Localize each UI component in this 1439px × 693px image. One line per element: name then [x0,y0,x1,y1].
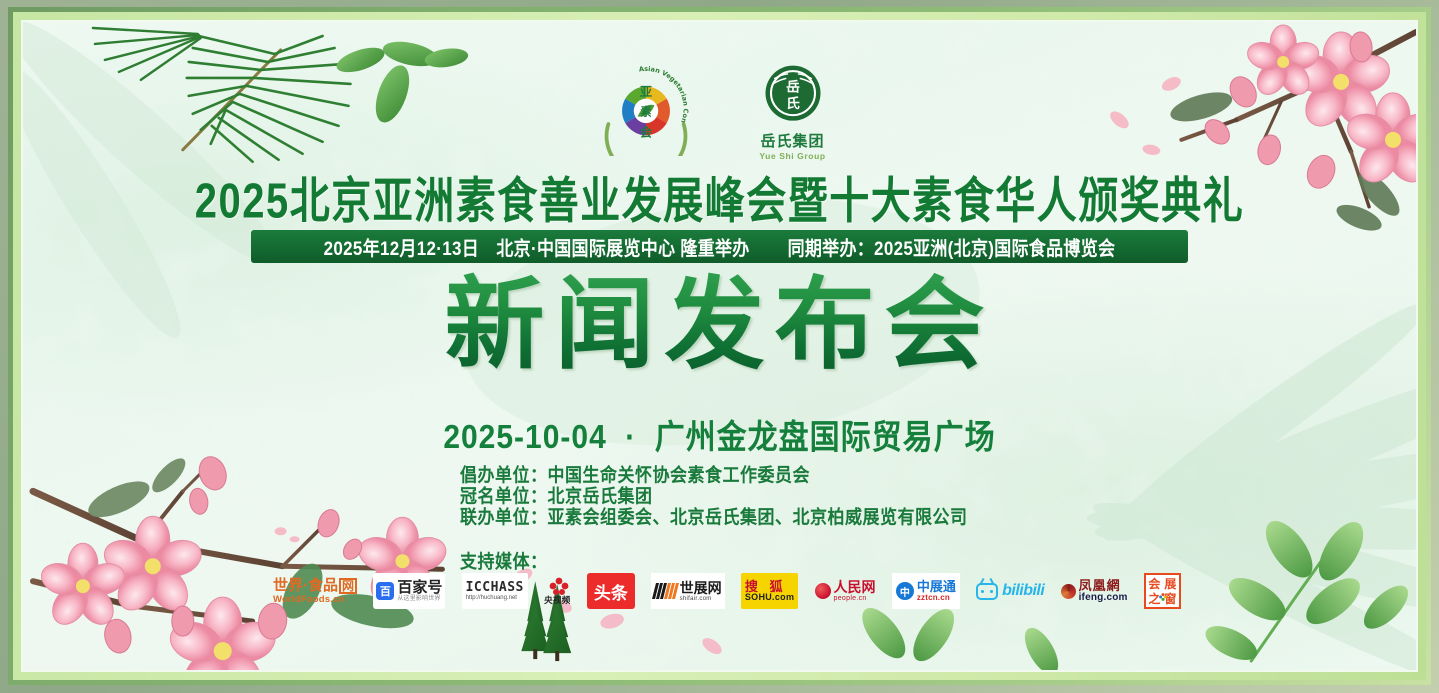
leaf-pair-bottom [854,601,1065,670]
svg-text:氏: 氏 [786,96,800,112]
people-cn-icon [815,583,831,599]
shifair-logo-cn: 世展网 [680,581,722,595]
baijiahao-logo-tagline: 从这里影响世界 [397,596,440,602]
supporting-media-logo-row: 世界 · 食品 网 WorldFoods.cn 百 百家号 从这里影响世界 [273,571,1181,611]
ifeng-logo-cn: 凤凰網 [1079,579,1121,592]
baijiahao-logo[interactable]: 百 百家号 从这里影响世界 [373,573,445,609]
shifair-logo[interactable]: 世展网 shifair.com [651,573,725,609]
organizer-block: 倡办单位：中国生命关怀协会素食工作委员会 冠名单位：北京岳氏集团 联办单位：亚素… [460,465,968,528]
huizhan-center-ornament [1159,588,1165,594]
yueshi-group-logo: 岳 氏 岳氏集团 Yue Shi Group [745,62,841,162]
people-cn-logo[interactable]: 人民网 people.cn [815,573,876,609]
supporting-media-label: 支持媒体： [460,546,548,574]
baijiahao-icon: 百 [376,582,394,600]
toutiao-logo[interactable]: 头条 [587,573,635,609]
press-conference-venue: 广州金龙盘国际贸易广场 [655,409,996,458]
poster-root: Asian Vegetarian Conference 亚 素 会 [0,0,1439,693]
people-cn-logo-cn: 人民网 [834,580,876,594]
top-logo-row: Asian Vegetarian Conference 亚 素 会 [23,62,1416,162]
main-title-text: 新闻发布会 [445,269,995,381]
zztcn-icon: 中 [896,582,914,600]
people-cn-logo-en: people.cn [834,595,867,602]
zztcn-logo-url: zztcn.cn [917,594,950,602]
bilibili-logo-text: bilibili [1002,582,1044,600]
poster-headline: 2025北京亚洲素食善业发展峰会暨十大素食华人颁奖典礼 [23,177,1416,217]
sohu-logo-en: SOHU.com [745,593,794,602]
huchuang-logo-url: http://huchuang.net [466,595,517,601]
svg-text:会: 会 [639,124,652,139]
venue-separator: · [625,419,636,457]
yangshipin-logo[interactable]: 央视频 [544,573,570,609]
event-details-bar: 2025年12月12·13日 北京·中国国际展览中心 隆重举办 同期举办：202… [251,230,1188,263]
huchuang-logo-cn: ICCHASS [466,581,524,594]
worldfoods-logo-cn2: 食品 [308,578,338,593]
ifeng-logo[interactable]: 凤凰網 ifeng.com [1061,573,1128,609]
headline-text: 2025北京亚洲素食善业发展峰会暨十大素食华人颁奖典礼 [195,177,1244,226]
svg-text:岳: 岳 [786,78,800,95]
main-title: 新闻发布会 [23,269,1416,381]
shifair-bars-icon [652,583,678,599]
asian-vegetarian-conference-logo: Asian Vegetarian Conference 亚 素 会 [599,62,693,156]
poster-canvas: Asian Vegetarian Conference 亚 素 会 [23,22,1416,670]
yangshipin-icon [549,577,566,592]
worldfoods-logo[interactable]: 世界 · 食品 网 WorldFoods.cn [273,573,357,609]
shifair-logo-url: shifair.com [680,596,712,602]
worldfoods-logo-en: WorldFoods.cn [273,595,345,605]
yangshipin-logo-cn: 央视频 [544,594,570,606]
ifeng-logo-url: ifeng.com [1079,593,1128,603]
ifeng-phoenix-icon [1061,584,1076,599]
huchuang-logo[interactable]: ICCHASS http://huchuang.net [462,573,528,609]
worldfoods-logo-cn: 世界 [273,578,303,593]
press-conference-date: 2025-10-04 [443,419,606,457]
concurrent-event-text: 同期举办：2025亚洲(北京)国际食品博览会 [788,233,1116,261]
poster-frame-hairline: Asian Vegetarian Conference 亚 素 会 [21,20,1418,672]
event-date-venue-text: 2025年12月12·13日 北京·中国国际展览中心 隆重举办 [324,233,750,261]
worldfoods-logo-box: 网 [339,578,357,594]
yueshi-logo-english: Yue Shi Group [745,151,841,161]
baijiahao-logo-cn: 百家号 [397,580,442,595]
huizhanzhichuang-logo[interactable]: 会 展 之 窗 [1144,573,1181,609]
organizer-line-initiator: 倡办单位：中国生命关怀协会素食工作委员会 [460,464,968,487]
bilibili-logo[interactable]: bilibili [976,573,1044,609]
press-conference-venue-line: 2025-10-04 · 广州金龙盘国际贸易广场 [23,412,1416,456]
organizer-line-title-sponsor: 冠名单位：北京岳氏集团 [460,485,968,508]
zztcn-logo[interactable]: 中 中展通 zztcn.cn [892,573,960,609]
bilibili-tv-icon [976,583,998,600]
sohu-logo[interactable]: 搜 狐 SOHU.com [741,573,798,609]
zztcn-logo-cn: 中展通 [917,580,956,593]
organizer-line-co-organizers: 联办单位：亚素会组委会、北京岳氏集团、北京柏威展览有限公司 [460,506,968,529]
svg-text:素: 素 [640,105,651,119]
yueshi-logo-chinese: 岳氏集团 [745,134,841,151]
svg-text:亚: 亚 [639,85,651,99]
